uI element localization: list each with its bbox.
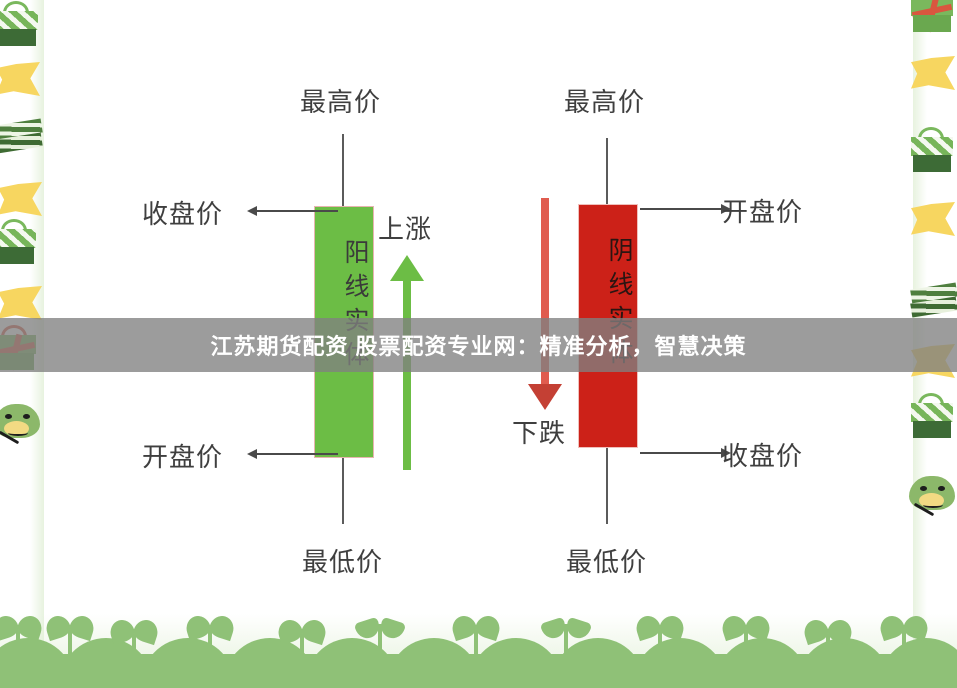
sprout-icon xyxy=(46,612,94,654)
bearish-close-label: 收盘价 xyxy=(722,436,803,473)
sprout-icon xyxy=(452,612,500,654)
uptrend-label: 上涨 xyxy=(378,209,432,246)
frog-icon xyxy=(0,400,38,444)
flag-icon xyxy=(911,56,955,90)
bullish-close-label: 收盘价 xyxy=(142,194,223,231)
flag-icon xyxy=(0,182,42,216)
sprout-icon xyxy=(186,612,234,654)
sprout-icon xyxy=(804,616,852,658)
sprout-icon xyxy=(0,612,42,654)
title-banner: 江苏期货配资 股票配资专业网：精准分析，智慧决策 xyxy=(0,318,957,372)
sprout-icon xyxy=(542,612,590,654)
gift-box-icon xyxy=(0,222,38,266)
sprout-icon xyxy=(278,616,326,658)
page-root: 阳线实体 最高价 收盘价 开盘价 最低价 上涨 阴线实体 最高价 开盘价 收盘价… xyxy=(0,0,957,688)
flag-icon xyxy=(911,202,955,236)
sprout-icon xyxy=(110,616,158,658)
gift-box-icon xyxy=(911,396,955,440)
flag-icon xyxy=(0,286,42,320)
bullish-open-connector xyxy=(256,453,338,455)
gift-box-icon xyxy=(911,130,955,174)
bullish-low-label: 最低价 xyxy=(302,542,383,579)
package-icon xyxy=(0,116,42,156)
package-icon xyxy=(911,280,957,320)
sprout-icon xyxy=(356,612,404,654)
banner-title-text: 江苏期货配资 股票配资专业网：精准分析，智慧决策 xyxy=(210,329,746,361)
bearish-high-label: 最高价 xyxy=(564,82,645,119)
bearish-low-label: 最低价 xyxy=(566,542,647,579)
bullish-close-connector xyxy=(256,210,338,212)
downtrend-label: 下跌 xyxy=(512,413,566,450)
sprout-icon xyxy=(722,612,770,654)
downtrend-arrow-icon xyxy=(528,198,562,410)
grass-band xyxy=(0,604,957,688)
bullish-open-label: 开盘价 xyxy=(142,437,223,474)
sprout-icon xyxy=(636,612,684,654)
gift-box-icon xyxy=(911,0,955,34)
gift-box-icon xyxy=(0,4,40,48)
frog-icon xyxy=(909,472,953,516)
grass-floor xyxy=(0,654,957,688)
bearish-close-connector xyxy=(640,452,722,454)
sprout-icon xyxy=(880,612,928,654)
bullish-high-label: 最高价 xyxy=(300,82,381,119)
flag-icon xyxy=(0,62,40,96)
bearish-open-label: 开盘价 xyxy=(722,192,803,229)
bearish-open-connector xyxy=(640,208,722,210)
